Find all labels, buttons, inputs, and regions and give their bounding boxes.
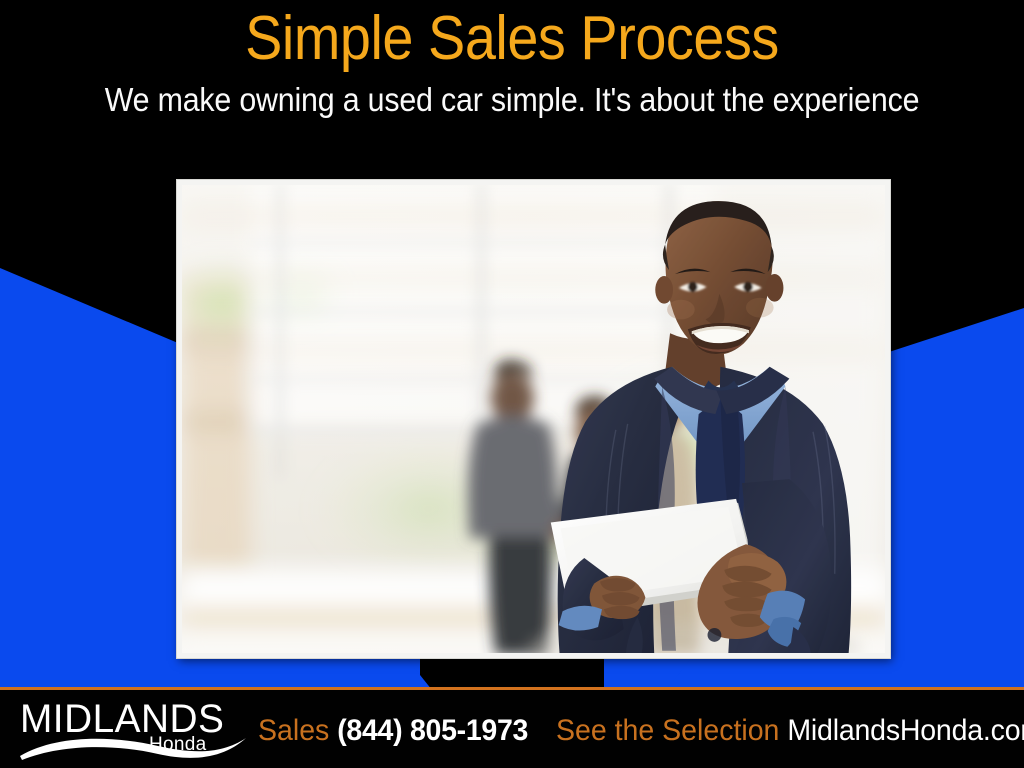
sales-label: Sales bbox=[258, 714, 329, 747]
logo-swoosh-icon bbox=[18, 732, 250, 762]
sales-contact-group: Sales (844) 805-1973 bbox=[258, 714, 528, 748]
header: Simple Sales Process We make owning a us… bbox=[0, 0, 1024, 150]
website-url[interactable]: MidlandsHonda.com bbox=[787, 714, 1024, 747]
selection-group: See the Selection MidlandsHonda.com bbox=[556, 714, 1024, 748]
sales-phone[interactable]: (844) 805-1973 bbox=[337, 714, 528, 747]
selection-label: See the Selection bbox=[556, 714, 779, 747]
midlands-honda-logo[interactable]: MIDLANDS Honda bbox=[18, 698, 248, 760]
page-title: Simple Sales Process bbox=[51, 6, 973, 72]
slide-canvas: Simple Sales Process We make owning a us… bbox=[0, 0, 1024, 768]
hero-photo bbox=[182, 185, 885, 653]
page-subtitle: We make owning a used car simple. It's a… bbox=[41, 81, 983, 119]
hero-photo-frame bbox=[177, 180, 890, 658]
footer-bar: MIDLANDS Honda Sales (844) 805-1973 See … bbox=[0, 690, 1024, 768]
